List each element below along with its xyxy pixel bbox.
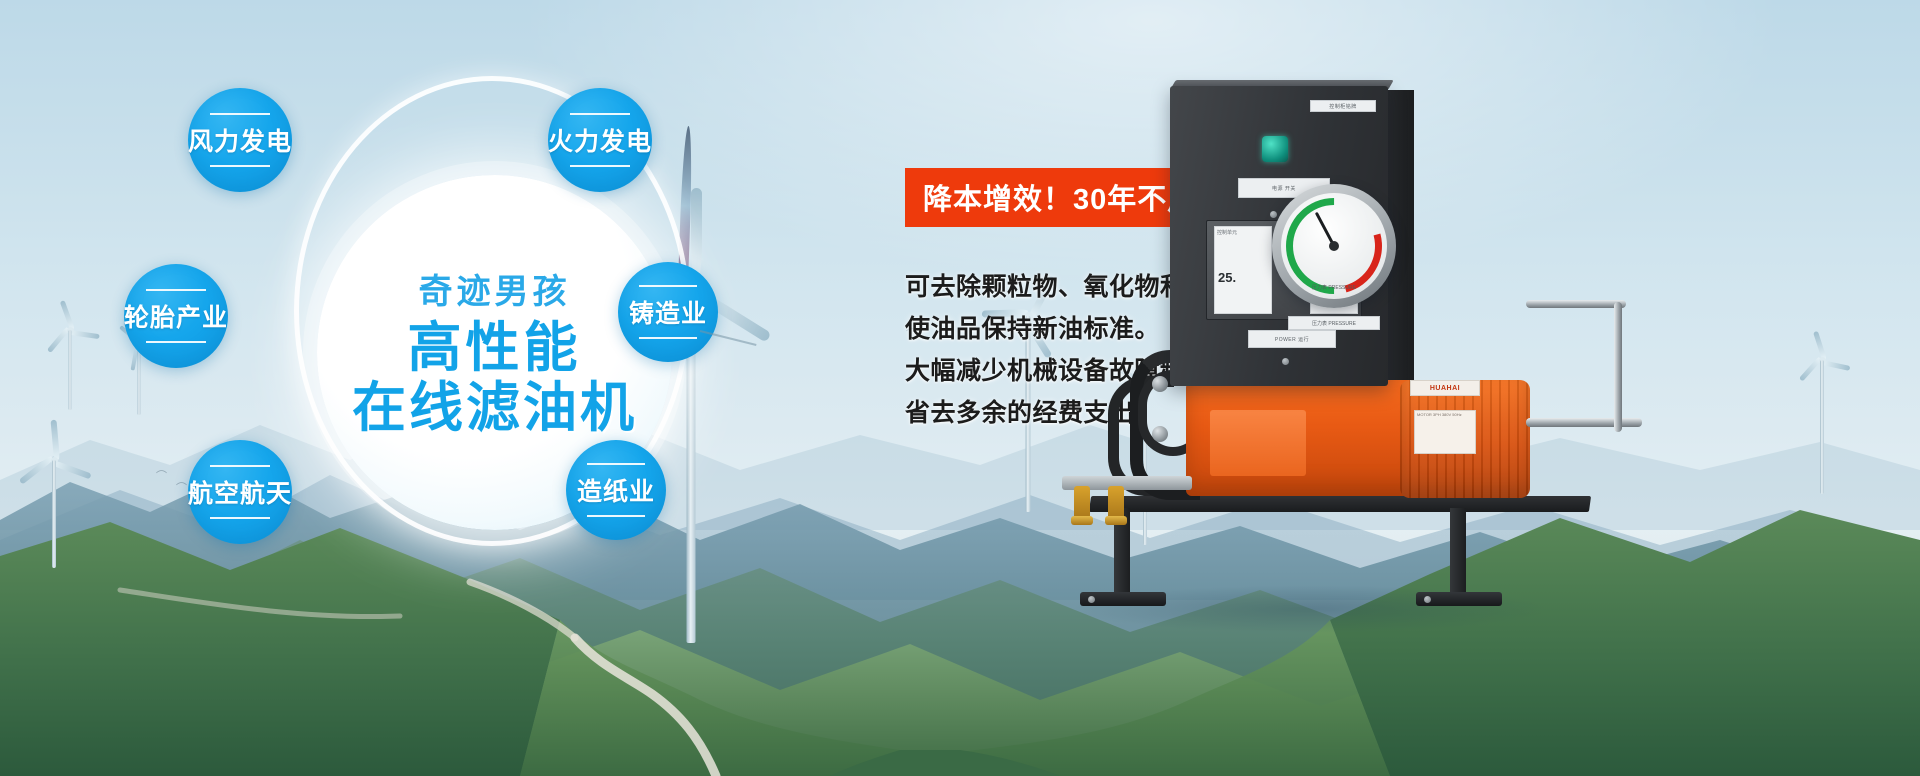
gauge-face-label: 压力表 PRESSURE [1281,284,1387,291]
valve-knob[interactable] [1105,516,1127,525]
node-rule-top [146,289,206,291]
panel-nameplate: 控制柜铭牌 [1310,100,1376,112]
node-aerospace[interactable]: 航空航天 [188,440,292,544]
node-label: 造纸业 [577,472,655,508]
wind-turbine [40,300,100,410]
upper-rod [1526,300,1626,308]
center-subtitle: 奇迹男孩 [419,264,571,313]
pressure-gauge: 压力表 PRESSURE [1272,184,1396,308]
panel-screw [1282,358,1289,365]
foot-screw [1088,596,1095,603]
node-label: 轮胎产业 [124,298,228,334]
node-rule-bottom [210,165,270,167]
node-label: 航空航天 [188,474,292,510]
node-wind-power[interactable]: 风力发电 [188,88,292,192]
bird-speck: ︵ [176,472,187,488]
node-rule-bottom [210,517,270,519]
panel-screw [1270,211,1277,218]
hero-banner: ︵ ︵ ︵ 奇迹男孩 高性能 在线滤油机 风力发电 火力发电 轮胎产业 铸造业 … [0,0,1920,776]
gauge-face: 压力表 PRESSURE [1281,193,1387,299]
brand-label: HUAHAI [1410,380,1480,396]
node-rule-bottom [570,165,630,167]
valley-foreground [0,470,1920,776]
gauge-pin [1329,241,1339,251]
motor-nameplate: MOTOR 3PH 380V 50Hz [1414,410,1476,454]
pump-side-panel [1210,410,1306,476]
node-rule-top [570,113,630,115]
vertical-rod [1614,302,1622,432]
node-label: 火力发电 [548,122,652,158]
wind-turbine [1792,330,1852,500]
oil-filter-machine: HUAHAI MOTOR 3PH 380V 50Hz 控制柜铭牌 电源 开关 控… [1010,80,1630,680]
node-rule-top [639,285,697,287]
drive-shaft [1526,418,1642,427]
valve[interactable] [1108,486,1124,520]
clamp-bolt [1152,426,1168,442]
valve[interactable] [1074,486,1090,520]
node-label: 风力发电 [188,122,292,158]
meter-reading: 25. [1218,270,1236,285]
wind-turbine [14,420,94,570]
node-rule-bottom [587,515,645,517]
clamp-bolt [1152,376,1168,392]
node-rule-bottom [146,341,206,343]
gauge-nameplate: 压力表 PRESSURE [1288,316,1380,330]
node-rule-bottom [639,337,697,339]
node-label: 铸造业 [629,294,707,330]
center-title-line1: 高性能 [408,319,582,377]
node-tire-industry[interactable]: 轮胎产业 [124,264,228,368]
valve-knob[interactable] [1071,516,1093,525]
bird-speck: ︵ [156,460,167,476]
power-indicator[interactable] [1262,136,1288,162]
node-rule-top [210,465,270,467]
center-title-line2: 在线滤油机 [352,377,637,441]
node-thermal-power[interactable]: 火力发电 [548,88,652,192]
panel-bottom-label: POWER 运行 [1248,330,1336,348]
node-rule-top [210,113,270,115]
node-foundry[interactable]: 铸造业 [618,262,718,362]
node-paper[interactable]: 造纸业 [566,440,666,540]
foot-screw [1424,596,1431,603]
node-rule-top [587,463,645,465]
machine-leg [1450,508,1466,604]
